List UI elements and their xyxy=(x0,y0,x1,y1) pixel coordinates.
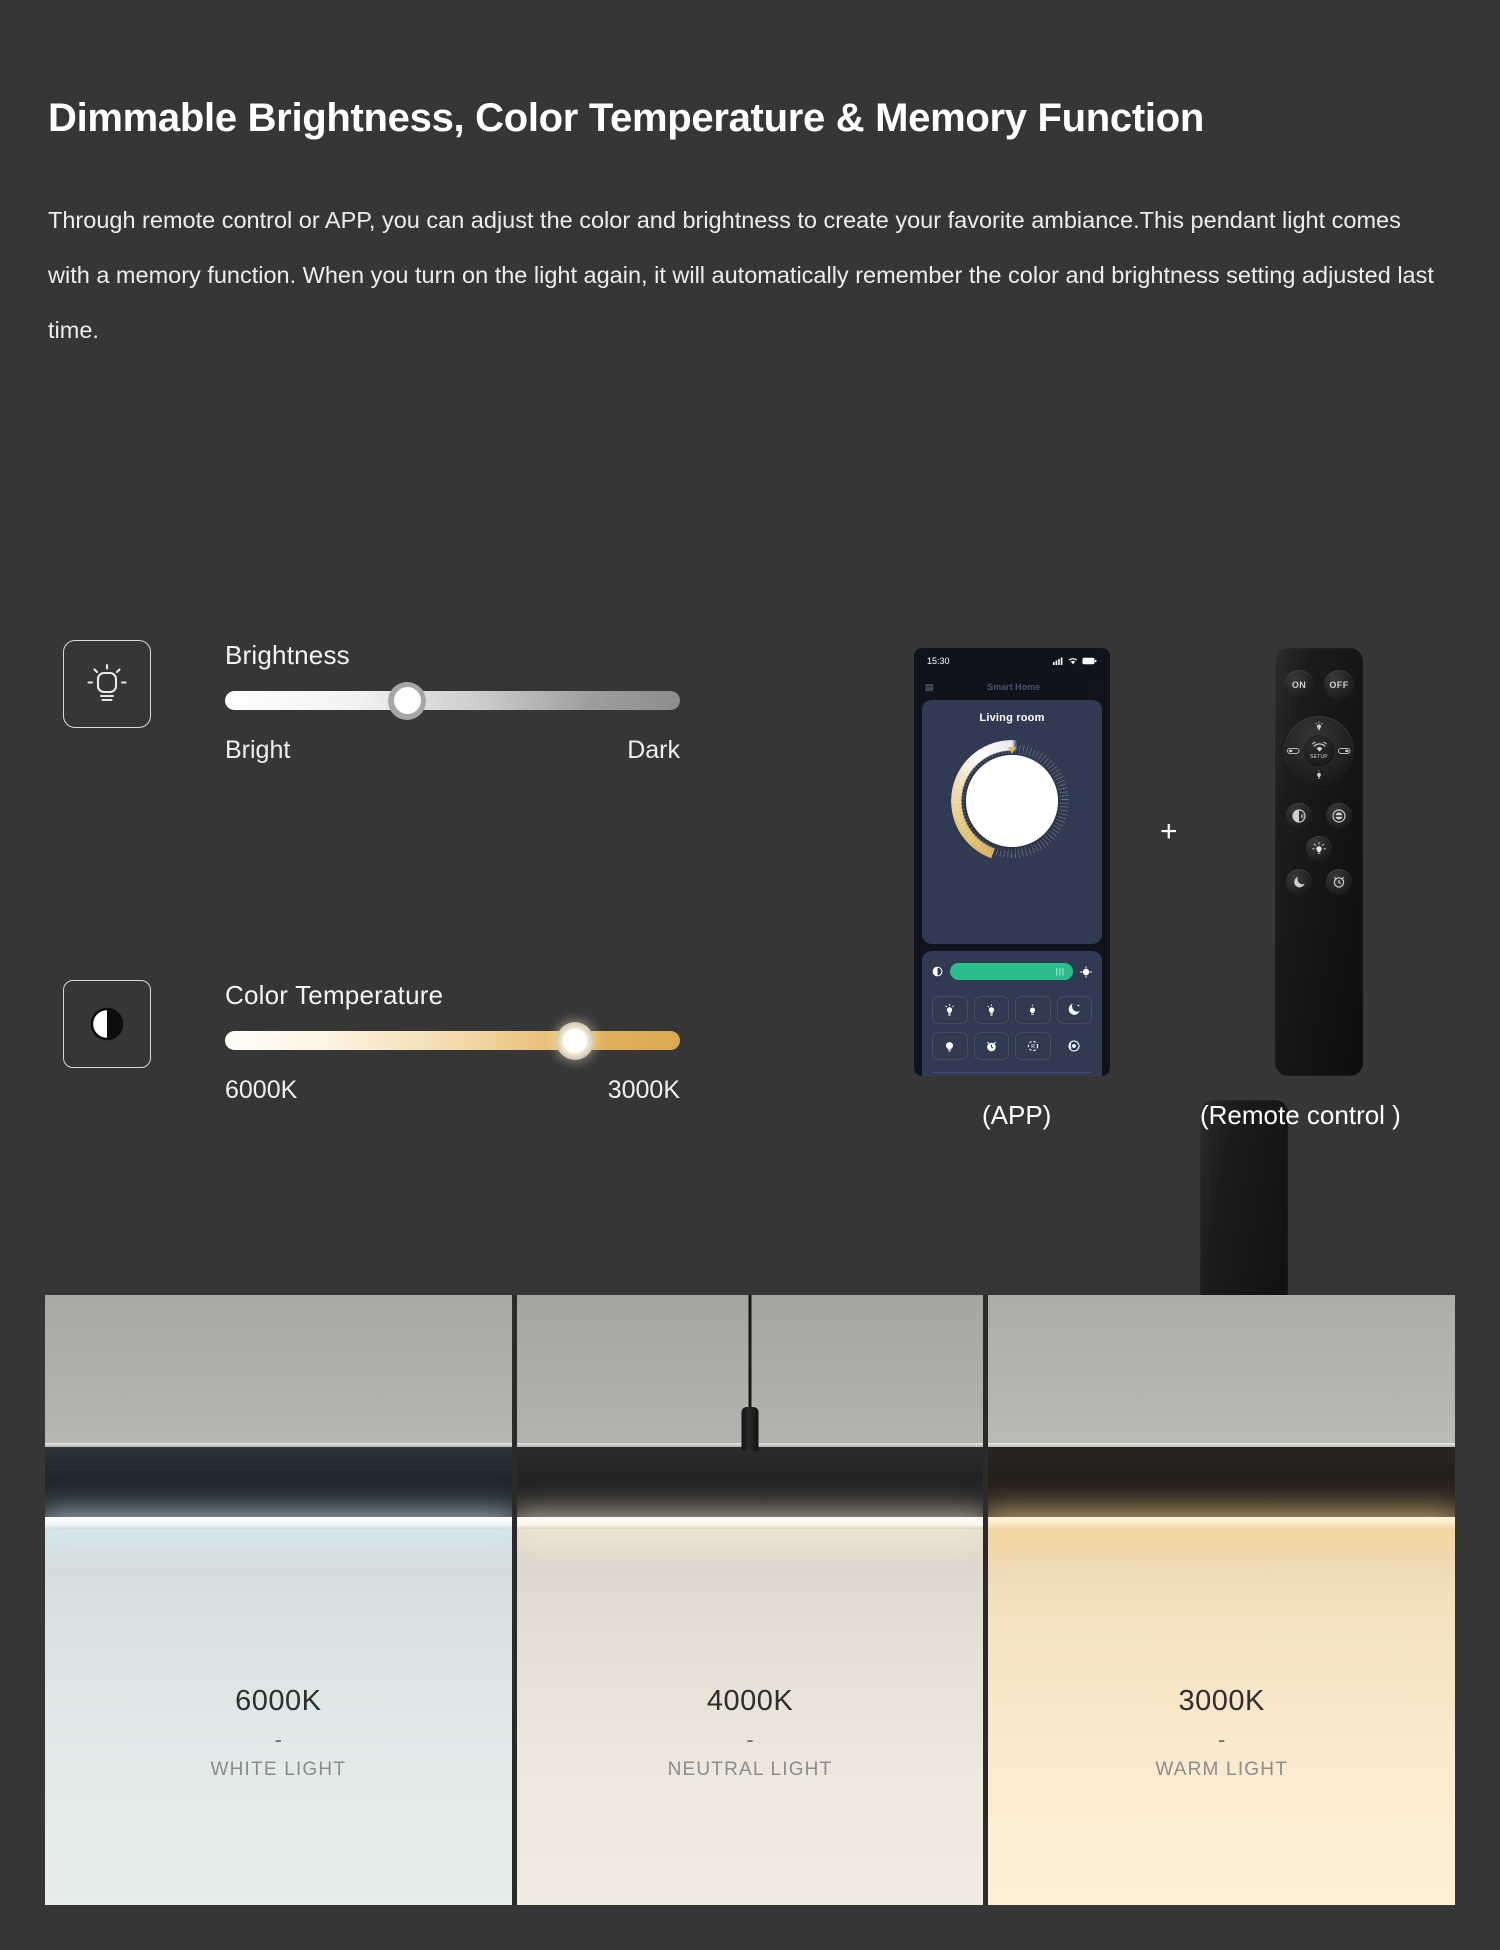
panel-label-group: 6000K - WHITE LIGHT xyxy=(45,1685,512,1781)
wifi-icon xyxy=(1068,657,1078,665)
phone-status-bar: 15:30 xyxy=(914,648,1110,674)
phone-nav-title: Smart Home xyxy=(987,682,1040,692)
dial-position-marker xyxy=(1008,747,1016,754)
description-paragraph: Through remote control or APP, you can a… xyxy=(48,193,1448,358)
color-temperature-slider-track[interactable] xyxy=(225,1031,680,1050)
suspension-cable xyxy=(749,1295,752,1413)
pendant-lamp-body xyxy=(517,1447,984,1521)
night-mode-moon-icon[interactable] xyxy=(1286,869,1312,895)
brightness-low-icon xyxy=(932,966,943,977)
color-temperature-control-row: Color Temperature 6000K 3000K xyxy=(63,980,680,1105)
dial-knob[interactable] xyxy=(966,755,1058,847)
app-caption: (APP) xyxy=(982,1100,1051,1131)
phone-room-title: Living room xyxy=(922,712,1102,724)
panel-light-name: WHITE LIGHT xyxy=(45,1759,512,1781)
brightness-range-labels: Bright Dark xyxy=(225,736,680,765)
brightness-slider-track[interactable] xyxy=(225,691,680,710)
phone-brightness-slider[interactable]: ||| xyxy=(950,963,1073,980)
brightness-slider-knob[interactable] xyxy=(388,682,426,720)
dim-right-icon[interactable] xyxy=(1338,747,1351,755)
bell-icon[interactable]: ◌ xyxy=(1094,682,1099,692)
brightness-control-row: Brightness Bright Dark xyxy=(63,640,680,765)
panel-neutral-light: 4000K - NEUTRAL LIGHT xyxy=(517,1295,984,1905)
panel-label-group: 3000K - WARM LIGHT xyxy=(988,1685,1455,1781)
bulb-solid-icon[interactable] xyxy=(932,1032,968,1060)
panel-warm-light: 3000K - WARM LIGHT xyxy=(988,1295,1455,1905)
panel-light-name: WARM LIGHT xyxy=(988,1759,1455,1781)
remote-on-button[interactable]: ON xyxy=(1284,670,1314,700)
panel-light-name: NEUTRAL LIGHT xyxy=(517,1759,984,1781)
phone-nav-bar: ▤ Smart Home ◌ xyxy=(914,674,1110,700)
color-temperature-slider-block: Color Temperature 6000K 3000K xyxy=(225,980,680,1105)
pendant-lamp-body xyxy=(988,1447,1455,1521)
sensor-icon[interactable] xyxy=(1057,1032,1093,1060)
panel-dash: - xyxy=(988,1727,1455,1753)
remote-setup-button[interactable]: SETUP xyxy=(1302,734,1336,768)
bulb-medium-icon[interactable] xyxy=(974,996,1010,1024)
brightness-right-label: Dark xyxy=(627,736,680,765)
cable-mount-bracket xyxy=(742,1407,759,1451)
remote-off-button[interactable]: OFF xyxy=(1324,670,1354,700)
header-section: Dimmable Brightness, Color Temperature &… xyxy=(48,96,1448,358)
lamp-light-strip xyxy=(517,1517,984,1529)
signal-icon xyxy=(1053,657,1064,665)
phone-scene-grid: R xyxy=(932,996,1092,1060)
wifi-icon xyxy=(1312,742,1327,753)
lamp-top-edge xyxy=(988,1443,1455,1447)
brightness-down-icon[interactable] xyxy=(1313,769,1325,781)
bulb-dim-icon[interactable] xyxy=(1015,996,1051,1024)
color-temperature-photo-strip: 6000K - WHITE LIGHT 4000K - NEUTRAL LIGH… xyxy=(45,1295,1455,1905)
phone-dial-panel: Living room xyxy=(922,700,1102,944)
panel-temperature: 6000K xyxy=(45,1685,512,1718)
dimmer-circle-icon[interactable] xyxy=(1326,803,1352,829)
plus-connector: + xyxy=(1160,815,1178,849)
phone-controls-panel: ||| R xyxy=(922,951,1102,1076)
panel-temperature: 3000K xyxy=(988,1685,1455,1718)
menu-icon[interactable]: ▤ xyxy=(925,682,934,693)
phone-status-time: 15:30 xyxy=(927,656,950,666)
brightness-high-icon xyxy=(1080,966,1092,978)
lamp-light-strip xyxy=(45,1517,512,1529)
color-cycle-icon[interactable]: R xyxy=(1015,1032,1051,1060)
app-phone-mockup: 15:30 ▤ Smart Home ◌ Living room ||| xyxy=(914,648,1110,1076)
moon-stars-icon[interactable] xyxy=(1057,996,1093,1024)
lamp-top-edge xyxy=(45,1443,512,1447)
phone-brightness-dial[interactable] xyxy=(951,740,1073,862)
color-temperature-title: Color Temperature xyxy=(225,980,680,1011)
panel-dash: - xyxy=(45,1727,512,1753)
panel-dash: - xyxy=(517,1727,984,1753)
brightness-title: Brightness xyxy=(225,640,680,671)
bulb-bright-icon[interactable] xyxy=(932,996,968,1024)
color-temperature-slider-knob[interactable] xyxy=(556,1022,594,1060)
remote-direction-pad[interactable]: SETUP xyxy=(1284,716,1354,786)
contrast-half-circle-icon xyxy=(63,980,151,1068)
color-temperature-right-label: 3000K xyxy=(608,1076,680,1105)
panel-label-group: 4000K - NEUTRAL LIGHT xyxy=(517,1685,984,1781)
light-bulb-icon xyxy=(63,640,151,728)
dim-left-icon[interactable] xyxy=(1287,747,1300,755)
full-bright-icon[interactable] xyxy=(1306,836,1332,862)
color-temperature-left-label: 6000K xyxy=(225,1076,297,1105)
color-temperature-range-labels: 6000K 3000K xyxy=(225,1076,680,1105)
pendant-lamp-body xyxy=(45,1447,512,1521)
battery-icon xyxy=(1082,657,1097,665)
brightness-slider-block: Brightness Bright Dark xyxy=(225,640,680,765)
remote-control-mockup: ON OFF SETUP K xyxy=(1275,648,1363,1076)
phone-slider-handle: ||| xyxy=(1056,967,1065,976)
brightness-up-icon[interactable] xyxy=(1313,721,1325,733)
kelvin-contrast-icon[interactable]: K xyxy=(1286,803,1312,829)
phone-status-icons xyxy=(1053,657,1097,665)
alarm-clock-icon[interactable] xyxy=(974,1032,1010,1060)
svg-text:K: K xyxy=(1301,814,1305,820)
phone-divider xyxy=(932,1072,1092,1073)
page-title: Dimmable Brightness, Color Temperature &… xyxy=(48,96,1448,141)
phone-brightness-slider-row: ||| xyxy=(932,963,1092,980)
lamp-light-strip xyxy=(988,1517,1455,1529)
panel-white-light: 6000K - WHITE LIGHT xyxy=(45,1295,512,1905)
svg-text:R: R xyxy=(1031,1044,1035,1050)
brightness-left-label: Bright xyxy=(225,736,290,765)
panel-temperature: 4000K xyxy=(517,1685,984,1718)
remote-setup-label: SETUP xyxy=(1310,754,1328,760)
timer-alarm-icon[interactable] xyxy=(1326,869,1352,895)
